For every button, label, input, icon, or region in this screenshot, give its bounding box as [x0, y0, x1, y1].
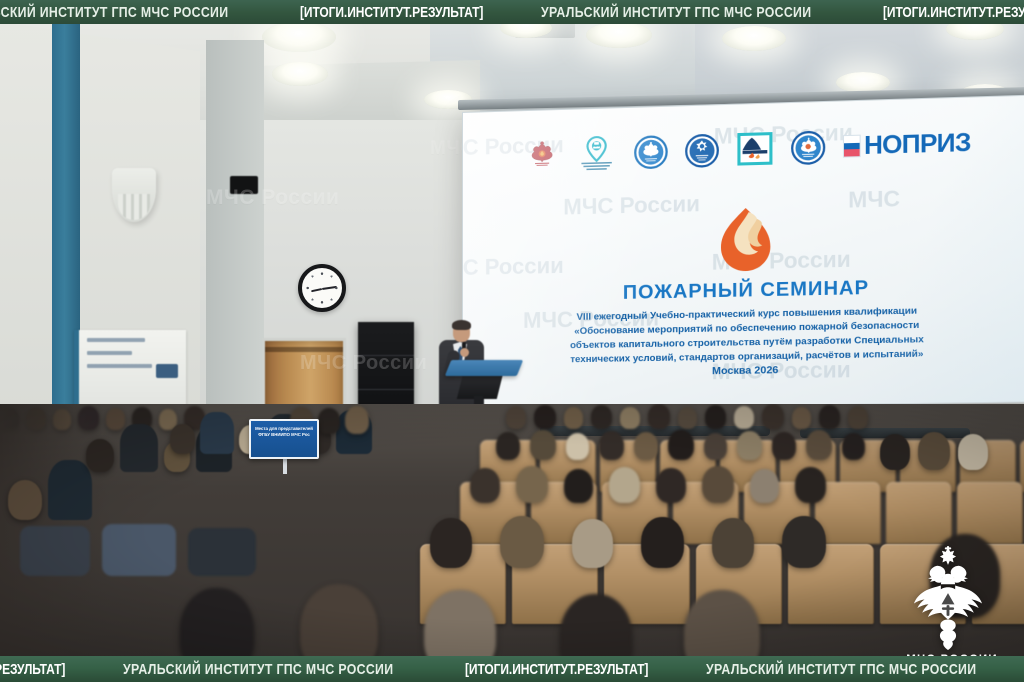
- audience-head: [842, 433, 865, 460]
- audience-head: [848, 406, 868, 429]
- bottom-ticker-banner: [ИТОГИ.ИНСТИТУТ.РЕЗУЛЬТАТ] УРАЛЬСКИЙ ИНС…: [0, 656, 1024, 682]
- ticker-slogan-text: [ИТОГИ.ИНСТИТУТ.РЕЗУЛЬТАТ]: [883, 4, 1024, 21]
- ticker-institute-text: УРАЛЬСКИЙ ИНСТИТУТ ГПС МЧС РОССИИ: [706, 661, 976, 678]
- top-ticker-banner: УРАЛЬСКИЙ ИНСТИТУТ ГПС МЧС РОССИИ [ИТОГИ…: [0, 0, 1024, 24]
- fire-safety-institute-logo: [737, 131, 774, 167]
- ceiling-lamp: [272, 62, 328, 86]
- wall-information-sign: [74, 330, 186, 406]
- audience-head: [702, 466, 734, 503]
- audience-head: [668, 430, 694, 460]
- ticker-slogan-text: [ИТОГИ.ИНСТИТУТ.РЕЗУЛЬТАТ]: [0, 661, 65, 678]
- audience-shoulders: [120, 424, 158, 472]
- audience-head: [656, 468, 686, 503]
- audience-head: [430, 518, 472, 568]
- screenshot-root: МЧС России МЧС России МЧС России МЧС Рос…: [0, 0, 1024, 682]
- seated-leg: [188, 528, 256, 576]
- wall-clock: [298, 264, 346, 312]
- seated-leg: [20, 526, 90, 576]
- audience-row: [506, 404, 868, 429]
- audience-head: [170, 424, 195, 454]
- audience-head: [819, 405, 840, 429]
- ceiling-lamp: [586, 22, 652, 48]
- audience-head: [880, 434, 910, 470]
- ceiling-lamp: [262, 22, 336, 52]
- vniipo-logo: [634, 135, 668, 169]
- audience-head: [564, 407, 583, 429]
- wall-sign-chip: [156, 364, 178, 378]
- ural-institute-gps-logo: [791, 130, 825, 165]
- reserved-seats-sign: Места для представителей ФГБУ ВНИИПО МЧС…: [249, 419, 319, 459]
- slide-watermark: МЧС: [848, 186, 900, 214]
- audience-head: [506, 406, 526, 429]
- flame-logo-icon: [711, 204, 779, 280]
- audience-head: [641, 517, 684, 568]
- mchs-rossii-emblem-logo: [525, 137, 559, 172]
- clock-face-ticks: [305, 271, 339, 305]
- projector-screen: МЧС России МЧС России МЧС России МЧС МЧС…: [462, 94, 1024, 410]
- audience-head: [795, 467, 826, 503]
- ticker-slogan-text: [ИТОГИ.ИНСТИТУТ.РЕЗУЛЬТАТ]: [465, 661, 648, 678]
- audience-head: [564, 469, 593, 503]
- audience-head: [620, 407, 640, 429]
- audience-head: [86, 439, 114, 472]
- audience-row: [430, 516, 826, 568]
- academy-gps-logo: [685, 133, 719, 167]
- audience-head: [737, 431, 762, 460]
- audience-head: [470, 468, 500, 503]
- seated-leg: [102, 524, 176, 576]
- audience-head: [704, 433, 727, 460]
- audience-head: [918, 432, 950, 470]
- slide-watermark: МЧС России: [563, 191, 700, 221]
- seated-legs: [20, 524, 256, 576]
- ceiling-lamp: [722, 26, 786, 51]
- audience-head: [705, 405, 726, 429]
- presenter-hair: [452, 320, 471, 330]
- nopriz-label: НОПРИЗ: [864, 130, 971, 159]
- ticker-slogan-text: [ИТОГИ.ИНСТИТУТ.РЕЗУЛЬТАТ]: [300, 4, 483, 21]
- audience-shoulders: [200, 412, 234, 454]
- audience-head: [792, 407, 811, 429]
- slide-title: ПОЖАРНЫЙ СЕМИНАР: [463, 273, 1024, 308]
- ticker-institute-text: УРАЛЬСКИЙ ИНСТИТУТ ГПС МЧС РОССИИ: [0, 4, 228, 21]
- nopriz-logo: НОПРИЗ: [843, 130, 970, 159]
- audience-head: [634, 432, 658, 460]
- audience-head: [572, 519, 613, 568]
- slide-subtitle: VIII ежегодный Учебно-практический курс …: [527, 303, 970, 367]
- audience-head: [318, 408, 340, 434]
- wall-recess: [206, 40, 264, 455]
- audience-head: [599, 431, 624, 460]
- audience-head: [782, 516, 826, 568]
- audience-head: [534, 405, 556, 429]
- audience-row-right: [880, 432, 988, 470]
- podium-top: [445, 360, 523, 376]
- audience-head: [566, 433, 589, 460]
- audience-head: [500, 516, 544, 568]
- audience-head: [806, 430, 832, 460]
- audience-head: [762, 404, 784, 429]
- mchs-rossii-eagle-emblem-icon: [894, 546, 1002, 650]
- russian-flag-icon: [843, 135, 861, 158]
- audience-head: [516, 466, 548, 503]
- audience-head: [712, 518, 754, 568]
- ticker-institute-text: УРАЛЬСКИЙ ИНСТИТУТ ГПС МЧС РОССИИ: [541, 4, 811, 21]
- wall-speaker-box: [230, 176, 258, 194]
- slide-logo-row: НОПРИЗ: [463, 122, 1024, 175]
- audience-head: [734, 406, 754, 429]
- minstroy-logo: [577, 135, 617, 172]
- audience-head: [496, 432, 520, 460]
- slide-watermark: МЧС России: [462, 253, 564, 282]
- sign-stand: [283, 458, 287, 474]
- audience-head: [591, 405, 612, 429]
- audience-row-left: [8, 460, 92, 520]
- audience-head: [772, 432, 796, 460]
- audience-head: [345, 406, 369, 434]
- audience-row: [470, 466, 826, 503]
- audience-head: [609, 467, 640, 503]
- presentation-slide: МЧС России МЧС России МЧС России МЧС МЧС…: [462, 94, 1024, 410]
- audience-head: [750, 469, 779, 503]
- ticker-institute-text: УРАЛЬСКИЙ ИНСТИТУТ ГПС МЧС РОССИИ: [123, 661, 393, 678]
- audience-head: [648, 404, 670, 429]
- audience-area: [0, 404, 1024, 682]
- presenter-hand: [460, 348, 469, 357]
- audience-head: [958, 434, 988, 470]
- audience-head: [678, 407, 697, 429]
- audience-head: [530, 430, 556, 460]
- audience-head: [8, 480, 42, 520]
- bottom-ticker-content: [ИТОГИ.ИНСТИТУТ.РЕЗУЛЬТАТ] УРАЛЬСКИЙ ИНС…: [0, 661, 1024, 678]
- audience-row: [496, 430, 865, 460]
- top-ticker-content: УРАЛЬСКИЙ ИНСТИТУТ ГПС МЧС РОССИИ [ИТОГИ…: [0, 4, 1024, 21]
- conference-hall-photo: МЧС России МЧС России МЧС России МЧС Рос…: [0, 0, 1024, 682]
